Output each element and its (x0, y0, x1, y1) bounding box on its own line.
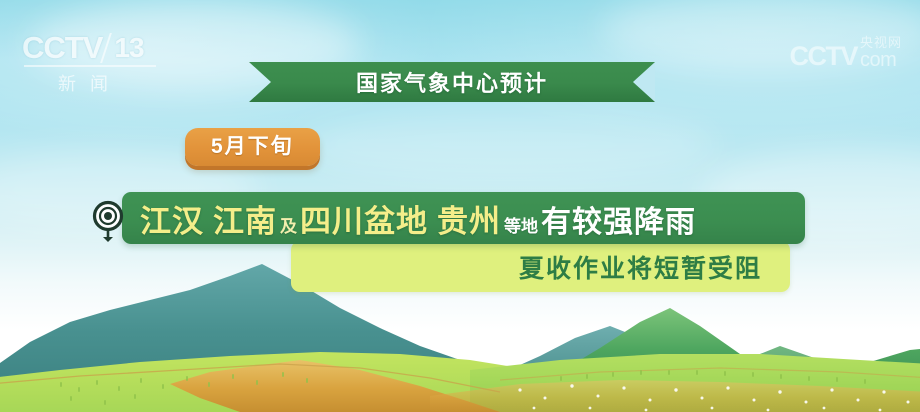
location-target-icon (90, 200, 126, 242)
headline-conjunction: 及 (280, 212, 297, 237)
cctv-com-watermark: CCTV 央视网 com (789, 36, 902, 70)
headline-band: 江汉 江南 及 四川盆地 贵州 等地 有较强降雨 (122, 192, 805, 244)
headline-predicate: 有较强降雨 (541, 197, 696, 241)
cctv13-logo-rule (24, 65, 156, 67)
subline-band: 夏收作业将短暂受阻 (291, 241, 790, 292)
header-title: 国家气象中心预计 (249, 62, 655, 102)
broadcast-graphic: CCTV 13 新闻 CCTV 央视网 com 国家气象中心预计 5月下旬 夏收… (0, 0, 920, 412)
cloud-wash (300, 110, 720, 180)
headline-region-3: 四川盆地 (300, 196, 428, 241)
watermark-tld: com (860, 50, 896, 70)
cctv13-logo-subtitle: 新闻 (24, 70, 156, 96)
date-badge-label: 5月下旬 (185, 128, 320, 166)
headline-text: 江汉 江南 及 四川盆地 贵州 等地 有较强降雨 (140, 196, 696, 241)
watermark-cn-text: 央视网 (860, 36, 902, 50)
header-banner: 国家气象中心预计 (249, 62, 655, 102)
watermark-brand: CCTV (789, 43, 857, 70)
headline-region-2: 江南 (213, 196, 277, 241)
headline-etc: 等地 (504, 212, 538, 237)
cctv13-logo-number: 13 (114, 34, 143, 62)
date-badge: 5月下旬 (185, 128, 320, 166)
subline-text: 夏收作业将短暂受阻 (519, 241, 762, 292)
headline-region-1: 江汉 (140, 196, 204, 241)
headline-region-4: 贵州 (437, 196, 501, 241)
cctv13-channel-logo: CCTV 13 新闻 (22, 32, 172, 94)
cctv13-logo-text: CCTV (22, 32, 102, 63)
